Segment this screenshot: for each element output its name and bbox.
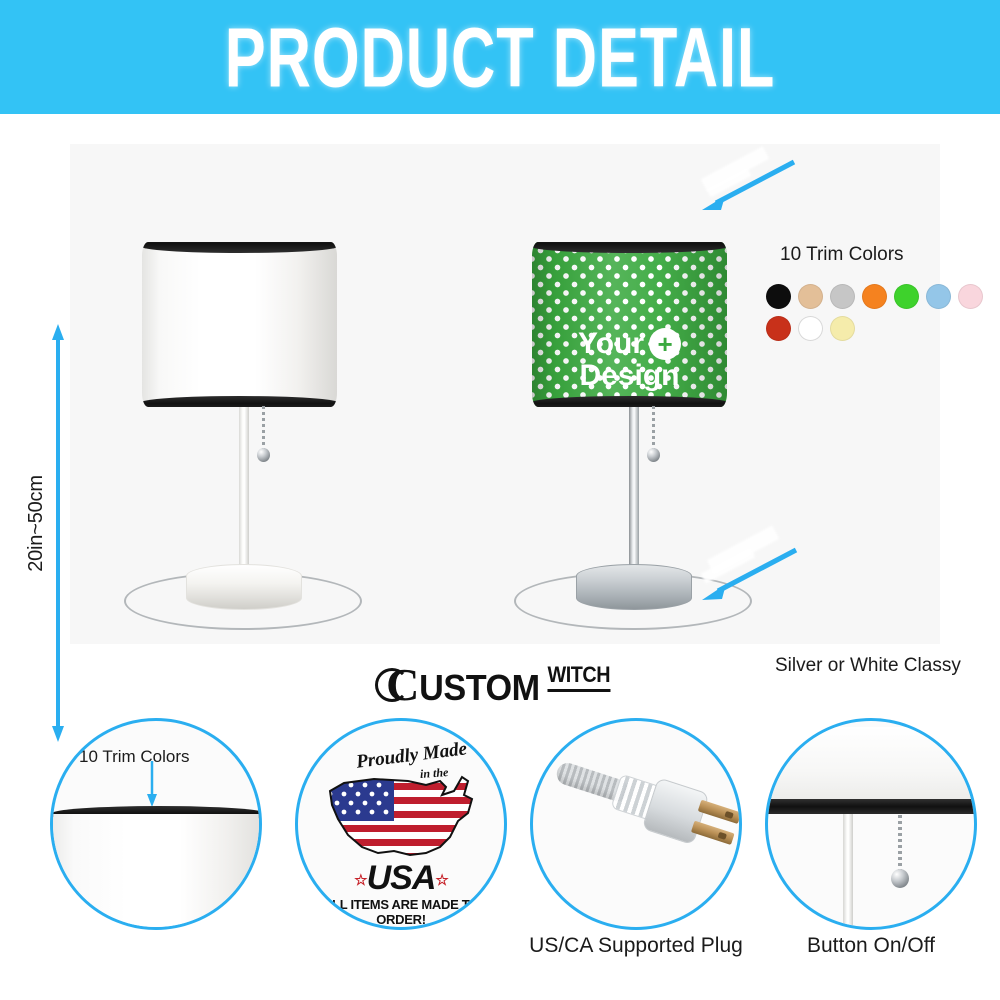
pull-chain-closeup[interactable] [898,815,920,905]
shade-surface-closeup [53,814,262,930]
trim-color-swatches[interactable] [766,284,1000,341]
star-left-icon: ☆ [354,872,366,889]
panel-switch: Button On/Off [765,712,977,1000]
header-banner: PRODUCT DETAIL [0,0,1000,114]
trim-swatch-yellow[interactable] [830,316,855,341]
panel-circle: Proudly Made in the [295,718,507,930]
chain-bead [647,448,660,462]
pull-chain[interactable] [652,406,672,466]
logo-inner: C USTOM WITCH [386,662,614,709]
trim-colors-title: 10 Trim Colors [780,244,904,266]
feature-panels: 10 Trim Colors Proudly Made in the [0,712,1000,1000]
trim-swatch-tan[interactable] [798,284,823,309]
panel-circle: 10 Trim Colors [50,718,262,930]
logo-c-mark: C [386,662,419,708]
shade-bottom-closeup [765,727,977,801]
trim-swatch-white[interactable] [798,316,823,341]
trim-swatch-pink[interactable] [958,284,983,309]
chain-bead [891,869,909,888]
lamp-shade-custom: Your + Design [532,242,727,407]
brand-logo: C USTOM WITCH [0,662,1000,708]
design-line-2-row: Design [538,360,721,392]
plus-icon: + [649,328,681,360]
trim-swatch-gray[interactable] [830,284,855,309]
shade-trim-closeup [765,799,977,814]
lamp-white [110,194,370,634]
panel-trim-colors: 10 Trim Colors [50,712,270,1000]
pull-chain[interactable] [262,406,282,466]
trim-swatch-light-blue[interactable] [926,284,951,309]
design-line-1: Your [578,328,644,360]
lamp-pole-closeup [843,814,853,930]
product-stage: 7in~18cm 20in~50cm [0,114,1000,660]
trim-pointer-arrow [145,761,159,807]
lamp-base [186,564,302,610]
trim-swatch-red[interactable] [766,316,791,341]
panel-circle [530,718,742,930]
logo-word-sub: WITCH [548,662,611,692]
design-line-2: Design [579,360,679,392]
plug-prong-top [698,800,742,824]
shade-trim-bottom [142,396,337,407]
usa-badge: Proudly Made in the [316,747,486,897]
logo-word-main: USTOM [420,667,541,709]
trim-swatch-orange[interactable] [862,284,887,309]
panel-circle [765,718,977,930]
panel-switch-caption: Button On/Off [745,934,997,958]
usa-main-text: ☆USA☆ [316,859,486,898]
panel-plug: US/CA Supported Plug [530,712,742,1000]
plug-prong-bottom [691,821,735,845]
panel-plug-caption: US/CA Supported Plug [506,934,766,958]
chain-cord [652,406,655,450]
chain-cord [898,815,902,871]
product-detail-page: PRODUCT DETAIL 7in~18cm 20in~50cm [0,0,1000,1000]
lamp-base [576,564,692,610]
trim-swatch-green[interactable] [894,284,919,309]
page-title: PRODUCT DETAIL [225,8,776,105]
trim-swatch-black[interactable] [766,284,791,309]
power-plug-icon [534,737,730,894]
star-right-icon: ☆ [435,872,447,889]
lamp-pole [239,402,249,582]
trim-colors-arrow [694,156,804,214]
usa-map-flag-icon [322,769,482,861]
design-line-1-row: Your + [538,328,721,360]
shade-design-text: Your + Design [532,328,727,392]
height-dimension-label: 20in~50cm [25,475,48,572]
usa-sub-text: ALL ITEMS ARE MADE TO ORDER! [310,897,492,927]
shade-trim-bottom [532,396,727,407]
usa-word: USA [367,859,436,897]
lamp-pole [629,402,639,582]
panel-trim-note: 10 Trim Colors [79,747,190,767]
base-finish-arrow [694,542,804,602]
panel-made-in-usa: Proudly Made in the [295,712,507,1000]
shade-surface [142,242,337,407]
lamp-shade [142,242,337,407]
chain-bead [257,448,270,462]
chain-cord [262,406,265,450]
